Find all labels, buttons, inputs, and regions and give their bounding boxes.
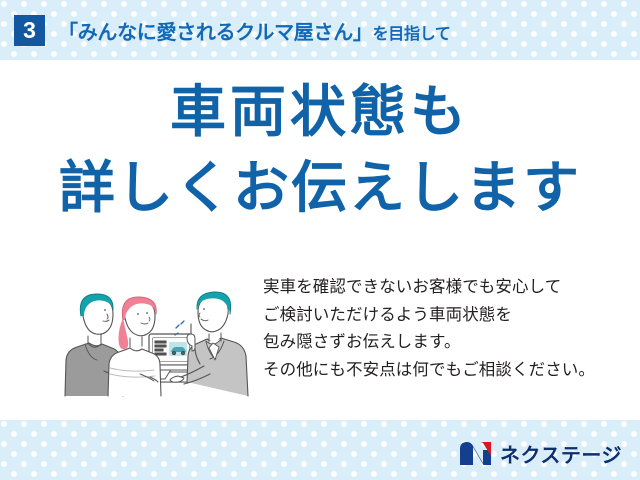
body-line-4: その他にも不安点は何でもご相談ください。 [263, 357, 640, 385]
headline-line-1: 車両状態も [0, 84, 640, 140]
nextage-n-logo-icon [459, 441, 493, 466]
body-line-1: 実車を確認できないお客様でも安心して [263, 274, 640, 302]
nextage-logo: ネクステージ [459, 438, 622, 468]
headline-block: 車両状態も 詳しくお伝えします [0, 84, 640, 216]
lower-content: 実車を確認できないお客様でも安心して ご検討いただけるよう車両状態を 包み隠さず… [0, 272, 640, 412]
banner-header: 3 「みんなに愛されるクルマ屋さん」を目指して [0, 0, 640, 60]
promo-banner: 3 「みんなに愛されるクルマ屋さん」を目指して 車両状態も 詳しくお伝えします [0, 0, 640, 480]
body-paragraph: 実車を確認できないお客様でも安心して ご検討いただけるよう車両状態を 包み隠さず… [263, 274, 640, 385]
headline-line-2: 詳しくお伝えします [0, 160, 640, 216]
header-title-main: 「みんなに愛されるクルマ屋さん」 [58, 22, 373, 44]
consultation-illustration [52, 276, 257, 401]
step-number-badge: 3 [14, 15, 45, 46]
header-title-suffix: を目指して [373, 26, 451, 43]
header-title: 「みんなに愛されるクルマ屋さん」を目指して [58, 16, 451, 45]
body-line-2: ご検討いただけるよう車両状態を [263, 302, 640, 330]
body-line-3: 包み隠さずお伝えします。 [263, 329, 640, 357]
brand-name: ネクステージ [500, 439, 622, 468]
content-panel: 車両状態も 詳しくお伝えします [0, 60, 640, 420]
